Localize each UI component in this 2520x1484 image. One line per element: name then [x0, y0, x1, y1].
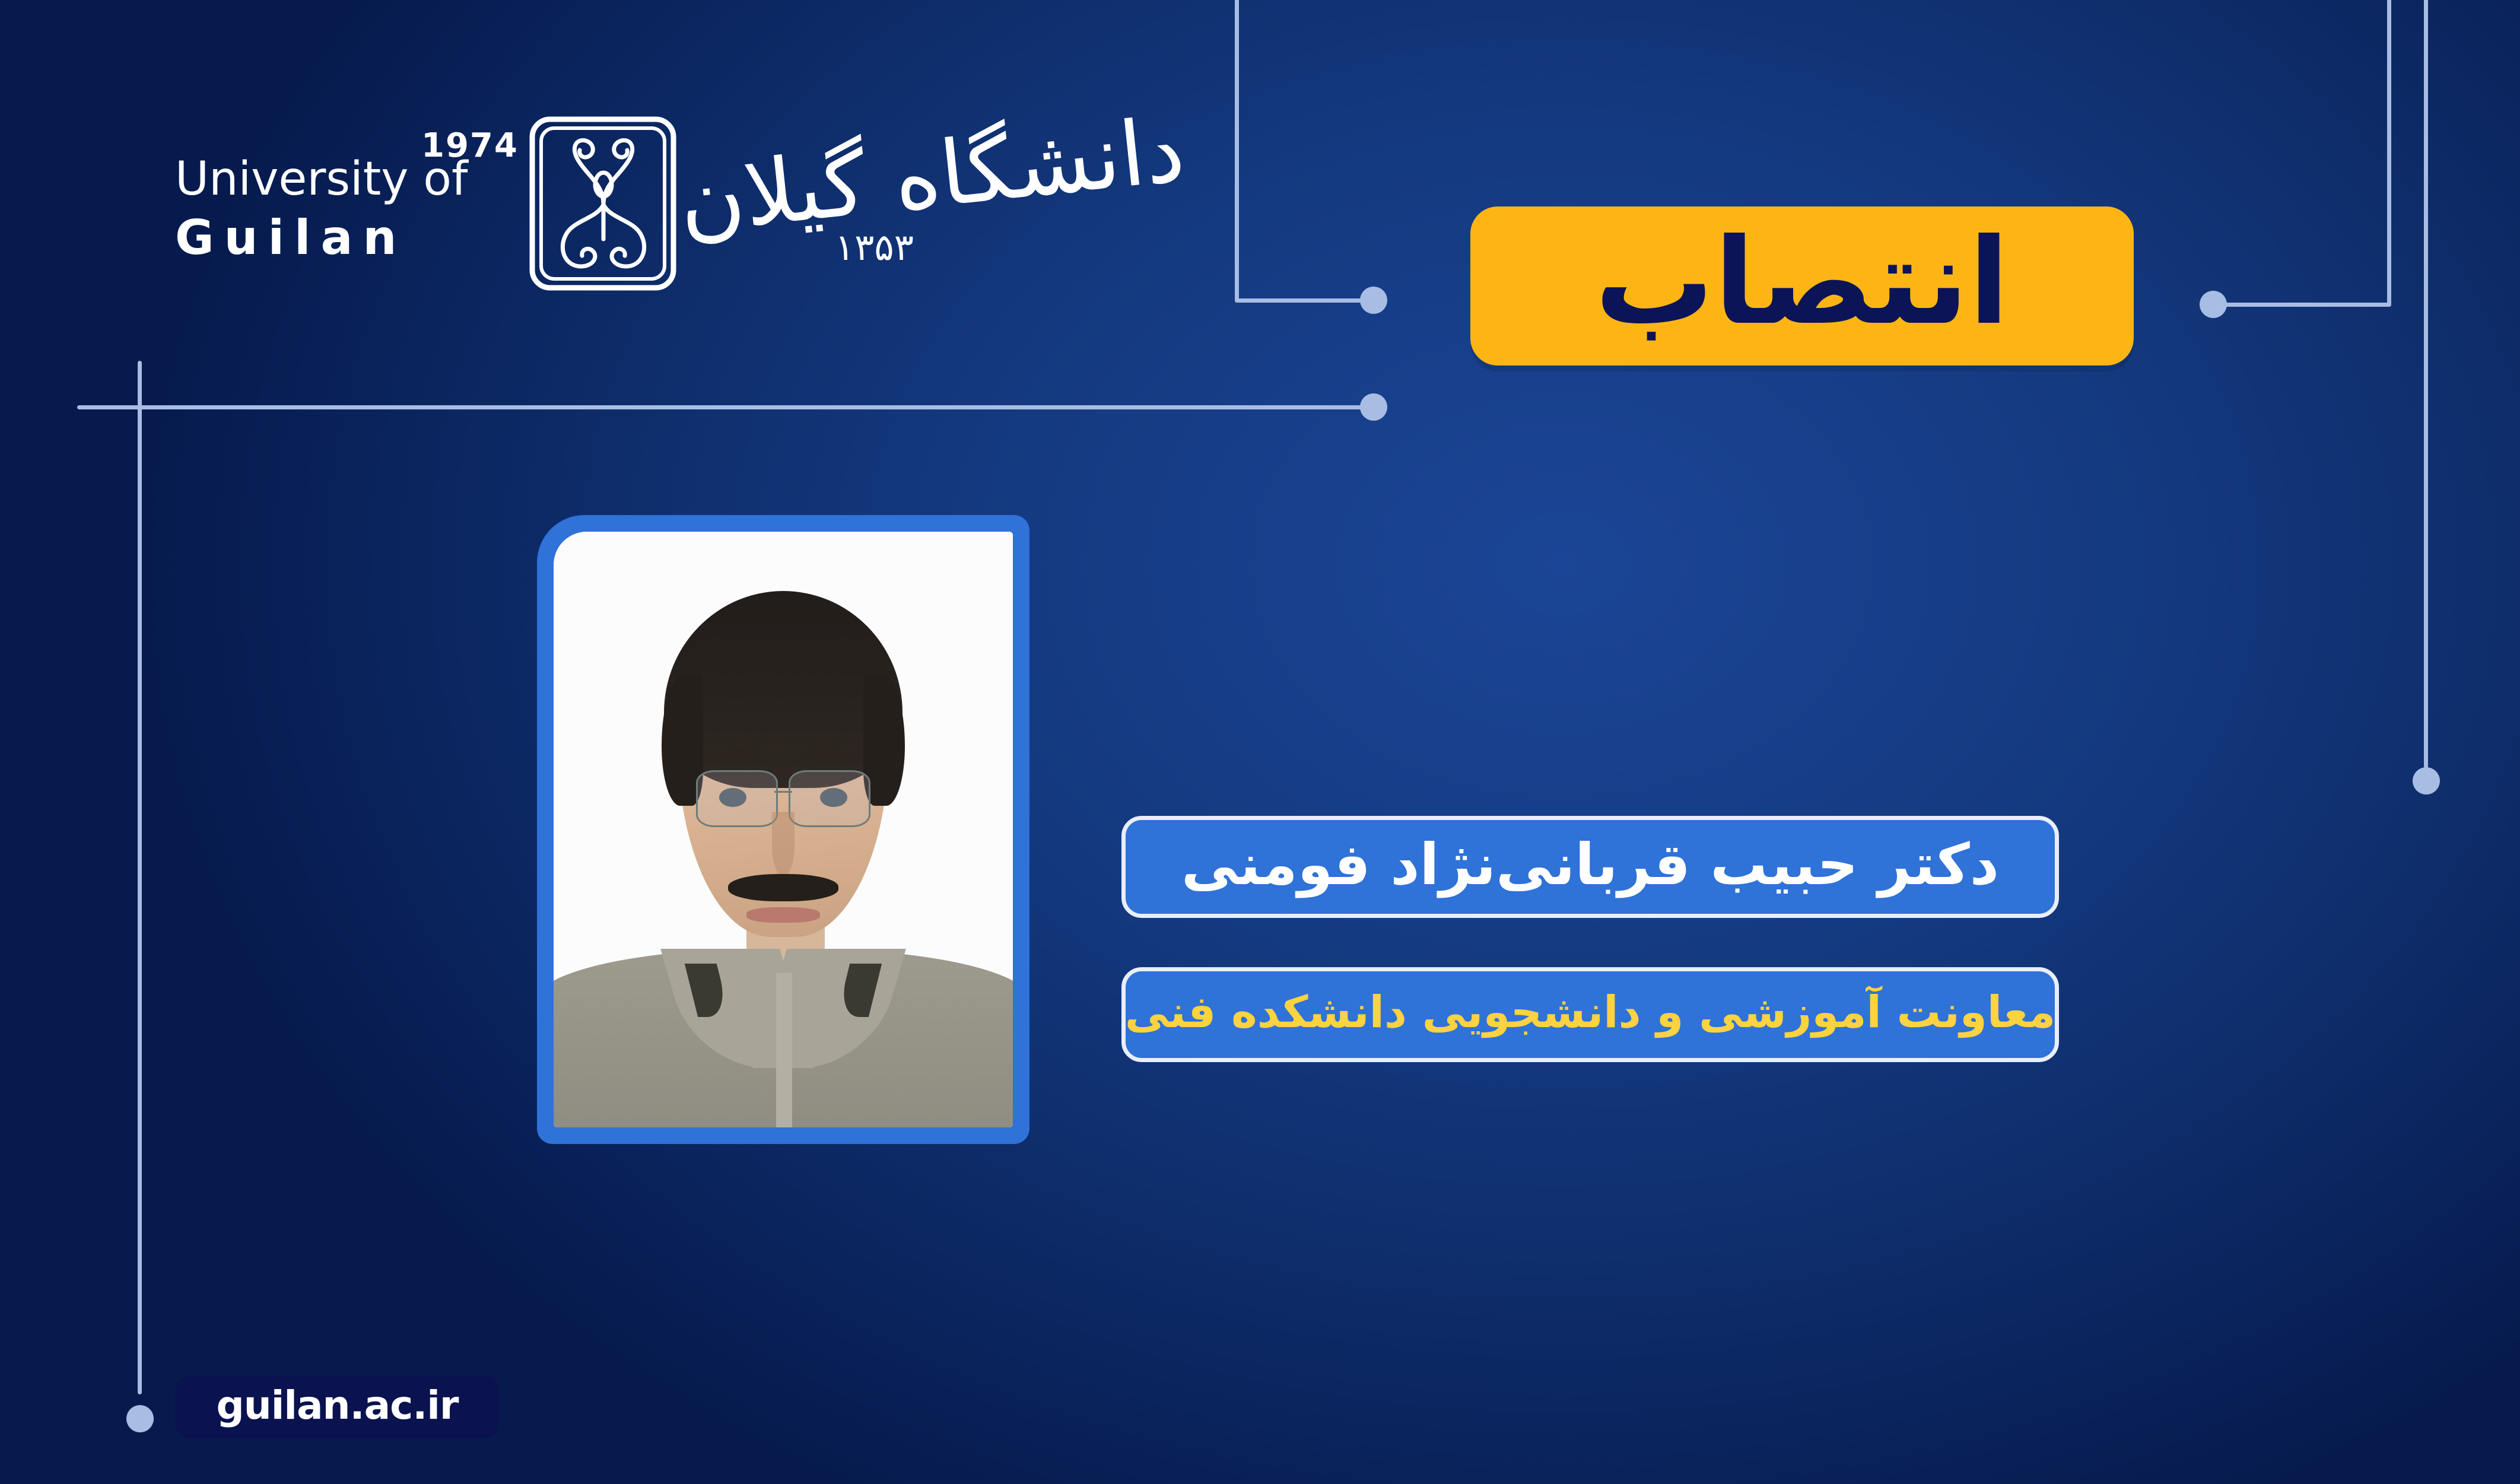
portrait-frame — [537, 515, 1029, 1144]
decorative-dot-right-horizontal-end — [2200, 291, 2227, 318]
person-role-banner: معاونت آموزشی و دانشجویی دانشکده فنی — [1121, 967, 2059, 1062]
decorative-line-top-center-vertical — [1235, 0, 1239, 301]
portrait-glasses-lens-right — [789, 770, 870, 827]
headline-label: انتصاب — [1595, 223, 2009, 342]
decorative-line-right-vertical-upper — [2387, 0, 2391, 306]
logo-persian-block: دانشگاه گیلان ۱۳۵۳ — [662, 104, 1184, 341]
person-role: معاونت آموزشی و دانشجویی دانشکده فنی — [1125, 990, 2055, 1034]
decorative-line-top-center-horizontal — [1235, 298, 1371, 303]
logo-founded-year-persian: ۱۳۵۳ — [835, 225, 914, 269]
decorative-dot-left-vertical-end — [126, 1405, 154, 1432]
website-url: guilan.ac.ir — [217, 1383, 459, 1428]
person-name: دکتر حبیب قربانی‌نژاد فومنی — [1181, 836, 1999, 893]
decorative-line-left-horizontal — [77, 405, 1377, 409]
decorative-line-left-vertical — [138, 361, 142, 1394]
university-logo: 1974 University of Guilan دانشگاه گیلان … — [175, 104, 1196, 359]
portrait-photo — [554, 532, 1013, 1127]
logo-guilan-line: Guilan — [175, 211, 507, 265]
decorative-dot-left-horizontal-end — [1360, 393, 1387, 421]
logo-university-line: University of — [175, 156, 507, 202]
portrait-shirt-placket — [776, 973, 792, 1127]
website-badge[interactable]: guilan.ac.ir — [176, 1377, 499, 1438]
decorative-line-right-horizontal — [2213, 303, 2391, 307]
portrait-nose — [772, 812, 795, 877]
portrait-moustache — [728, 874, 838, 901]
logo-english-name: University of Guilan — [175, 156, 507, 265]
appointment-announcement-poster: 1974 University of Guilan دانشگاه گیلان … — [0, 0, 2520, 1484]
decorative-dot-right-vertical-end — [2413, 767, 2440, 795]
decorative-line-right-vertical-lower — [2424, 0, 2428, 768]
logo-persian-name: دانشگاه گیلان — [673, 98, 1189, 253]
person-name-banner: دکتر حبیب قربانی‌نژاد فومنی — [1121, 816, 2059, 918]
portrait-glasses-lens-left — [696, 770, 778, 827]
headline-badge: انتصاب — [1470, 206, 2134, 366]
portrait-lips — [746, 907, 820, 923]
guilan-university-emblem-icon — [526, 115, 681, 293]
portrait-glasses-bridge — [774, 791, 793, 793]
decorative-dot-top-center — [1360, 287, 1387, 314]
